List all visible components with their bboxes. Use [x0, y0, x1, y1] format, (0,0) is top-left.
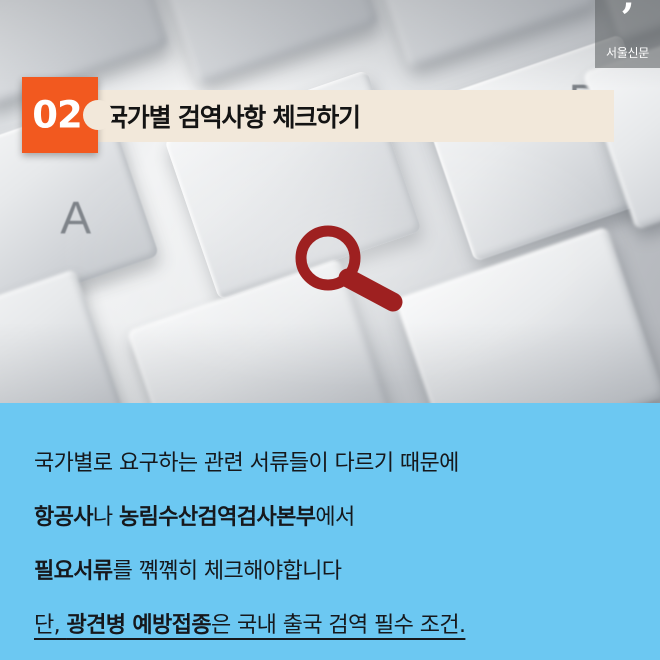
caption-text-block: 국가별로 요구하는 관련 서류들이 다르기 때문에항공사나 농림수산검역검사본부…	[34, 437, 640, 653]
publisher-logo: ’ 서울신문	[595, 0, 660, 68]
infographic-card: E A D ’ 서울신문 국가별 검역사항 체크하기	[0, 0, 660, 660]
page-title: 국가별 검역사항 체크하기	[105, 98, 360, 134]
caption-line-2-segment-2: 나	[93, 505, 119, 530]
caption-line-4-segment-2: 광견병 예방접종	[66, 613, 211, 638]
caption-line-1: 국가별로 요구하는 관련 서류들이 다르기 때문에	[34, 437, 640, 491]
caption-line-1-segment-1: 국가별로 요구하는 관련 서류들이 다르기 때문에	[34, 451, 459, 476]
caption-line-4: 단, 광견병 예방접종은 국내 출국 검역 필수 조건.	[34, 599, 640, 653]
comma-quote-mark-icon: ’	[621, 6, 635, 32]
caption-line-4-segment-1: 단,	[34, 613, 66, 638]
caption-line-2: 항공사나 농림수산검역검사본부에서	[34, 491, 640, 545]
step-number: 02	[22, 94, 98, 137]
step-number-badge: 02	[22, 77, 98, 153]
caption-line-4-segment-3: 은 국내 출국 검역 필수 조건.	[211, 613, 465, 638]
caption-line-3: 필요서류를 꼒꼒히 체크해야합니다	[34, 545, 640, 599]
keyboard-photo: E A D ’ 서울신문 국가별 검역사항 체크하기	[0, 0, 660, 403]
title-banner: 국가별 검역사항 체크하기	[69, 90, 614, 142]
photo-vignette	[0, 0, 660, 403]
caption-line-2-segment-1: 항공사	[34, 505, 93, 530]
caption-line-2-segment-3: 농림수산검역검사본부	[119, 505, 315, 530]
caption-line-2-segment-4: 에서	[315, 505, 354, 530]
publisher-name: 서울신문	[606, 44, 649, 61]
caption-panel: 국가별로 요구하는 관련 서류들이 다르기 때문에항공사나 농림수산검역검사본부…	[0, 403, 660, 660]
caption-line-3-segment-2: 를 꼒꼒히 체크해야합니다	[113, 559, 342, 584]
magnifier-icon	[286, 222, 414, 318]
caption-line-3-segment-1: 필요서류	[34, 559, 113, 584]
